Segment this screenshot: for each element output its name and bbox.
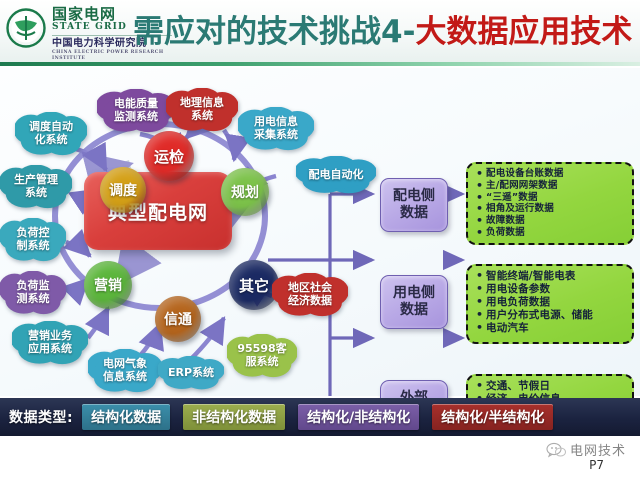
cloud-node: 营销业务 应用系统 bbox=[12, 321, 88, 365]
hub-circle: 运检 bbox=[144, 131, 194, 181]
legend-chip[interactable]: 结构化数据 bbox=[82, 404, 170, 430]
legend-chip-label: 非结构化数据 bbox=[192, 407, 276, 427]
legend-chip-label: 结构化/非结构化 bbox=[307, 407, 410, 427]
cloud-label: 地区社会 经济数据 bbox=[272, 273, 348, 317]
hub-label: 营销 bbox=[94, 275, 122, 295]
cloud-node: 地理信息 系统 bbox=[166, 88, 238, 132]
cloud-node: 调度自动 化系统 bbox=[15, 112, 87, 156]
stage-box-label: 配电侧 数据 bbox=[393, 188, 435, 223]
detail-list-item: 电动汽车 bbox=[475, 322, 627, 335]
legend-bar: 数据类型: 结构化数据非结构化数据结构化/非结构化结构化/半结构化 bbox=[0, 398, 640, 436]
hub-label: 其它 bbox=[239, 275, 269, 296]
detail-list-item: 配电设备台账数据 bbox=[475, 168, 627, 180]
cloud-label: 负荷监 测系统 bbox=[0, 271, 66, 315]
slide-footer: 电网技术 P7 bbox=[0, 436, 640, 480]
cloud-label: 电能质量 监测系统 bbox=[97, 89, 175, 133]
slide-root: 国家电网 STATE GRID 中国电力科学研究院 CHINA ELECTRIC… bbox=[0, 0, 640, 480]
legend-chips: 结构化数据非结构化数据结构化/非结构化结构化/半结构化 bbox=[82, 404, 566, 430]
cloud-label: 电网气象 信息系统 bbox=[88, 349, 162, 393]
detail-list-item: 负荷数据 bbox=[475, 227, 627, 239]
wechat-icon bbox=[546, 442, 566, 458]
hub-circle: 调度 bbox=[100, 167, 146, 213]
detail-list-item: 智能终端/智能电表 bbox=[475, 270, 627, 283]
legend-label: 数据类型: bbox=[9, 407, 73, 427]
cloud-label: 95598客 服系统 bbox=[227, 334, 297, 378]
cloud-node: ERP系统 bbox=[158, 356, 224, 390]
legend-chip[interactable]: 结构化/半结构化 bbox=[432, 404, 553, 430]
page-number: P7 bbox=[589, 458, 604, 472]
detail-list-item: “三遥”数据 bbox=[475, 192, 627, 204]
cloud-node: 95598客 服系统 bbox=[227, 334, 297, 378]
hub-label: 信通 bbox=[164, 309, 192, 329]
watermark: 电网技术 bbox=[546, 440, 626, 459]
slide-header: 国家电网 STATE GRID 中国电力科学研究院 CHINA ELECTRIC… bbox=[0, 0, 640, 62]
watermark-text: 电网技术 bbox=[570, 440, 626, 459]
hub-label: 调度 bbox=[109, 180, 137, 200]
legend-chip[interactable]: 结构化/非结构化 bbox=[298, 404, 419, 430]
detail-list-item: 故障数据 bbox=[475, 215, 627, 227]
detail-list-item: 交通、节假日 bbox=[475, 380, 627, 393]
hub-label: 规划 bbox=[231, 182, 259, 202]
hub-circle: 营销 bbox=[84, 261, 132, 309]
page-title: 需应对的技术挑战4-大数据应用技术 bbox=[133, 11, 632, 53]
cloud-node: 负荷监 测系统 bbox=[0, 271, 66, 315]
diagram-canvas: 典型配电网 调度运检规划其它信通营销 电能质量 监测系统地理信息 系统用电信息 … bbox=[0, 68, 640, 396]
cloud-node: 配电自动化 bbox=[296, 156, 376, 194]
cloud-node: 地区社会 经济数据 bbox=[272, 273, 348, 317]
hub-circle: 规划 bbox=[221, 168, 269, 216]
detail-list-box: 配电设备台账数据主/配网网架数据“三遥”数据相角及运行数据故障数据负荷数据 bbox=[466, 162, 634, 245]
cloud-label: ERP系统 bbox=[158, 356, 224, 390]
cloud-node: 负荷控 制系统 bbox=[0, 218, 66, 262]
stage-box-label: 用电侧 数据 bbox=[393, 285, 435, 320]
detail-list: 配电设备台账数据主/配网网架数据“三遥”数据相角及运行数据故障数据负荷数据 bbox=[475, 168, 627, 239]
legend-chip-label: 结构化/半结构化 bbox=[441, 407, 544, 427]
stage-box: 配电侧 数据 bbox=[380, 178, 448, 232]
cloud-label: 调度自动 化系统 bbox=[15, 112, 87, 156]
detail-list-item: 用电设备参数 bbox=[475, 283, 627, 296]
cloud-node: 用电信息 采集系统 bbox=[238, 107, 314, 151]
cloud-node: 生产管理 系统 bbox=[0, 165, 72, 209]
cloud-label: 用电信息 采集系统 bbox=[238, 107, 314, 151]
detail-list-item: 用户分布式电源、储能 bbox=[475, 309, 627, 322]
cloud-node: 电能质量 监测系统 bbox=[97, 89, 175, 133]
detail-list: 智能终端/智能电表用电设备参数用电负荷数据用户分布式电源、储能电动汽车 bbox=[475, 270, 627, 335]
cloud-label: 负荷控 制系统 bbox=[0, 218, 66, 262]
cloud-label: 配电自动化 bbox=[296, 156, 376, 194]
detail-list-item: 相角及运行数据 bbox=[475, 203, 627, 215]
page-title-part2: 大数据应用技术 bbox=[415, 14, 632, 50]
legend-chip-label: 结构化数据 bbox=[91, 407, 161, 427]
hub-label: 运检 bbox=[154, 146, 184, 167]
cloud-label: 营销业务 应用系统 bbox=[12, 321, 88, 365]
stage-box: 用电侧 数据 bbox=[380, 275, 448, 329]
page-title-part1: 需应对的技术挑战4- bbox=[133, 14, 415, 50]
detail-list-item: 用电负荷数据 bbox=[475, 296, 627, 309]
state-grid-emblem-icon bbox=[6, 8, 46, 48]
cloud-label: 地理信息 系统 bbox=[166, 88, 238, 132]
detail-list-box: 智能终端/智能电表用电设备参数用电负荷数据用户分布式电源、储能电动汽车 bbox=[466, 264, 634, 344]
legend-chip[interactable]: 非结构化数据 bbox=[183, 404, 285, 430]
cloud-label: 生产管理 系统 bbox=[0, 165, 72, 209]
detail-list-item: 主/配网网架数据 bbox=[475, 180, 627, 192]
cloud-node: 电网气象 信息系统 bbox=[88, 349, 162, 393]
hub-circle: 信通 bbox=[155, 296, 201, 342]
